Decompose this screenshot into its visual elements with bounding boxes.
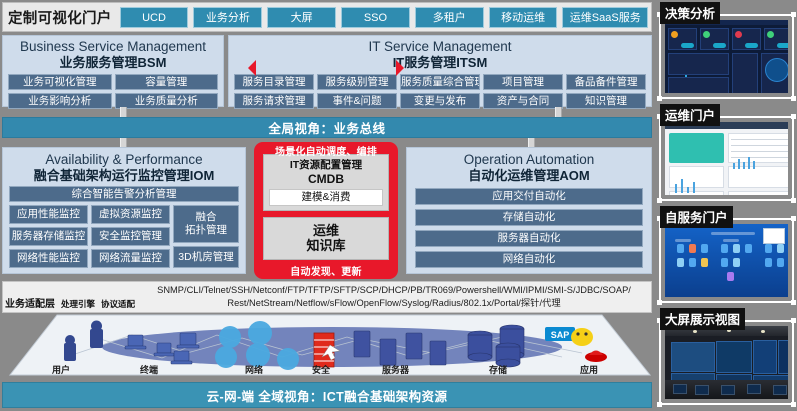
- protocol-layer-adapt-label: 协议适配: [101, 298, 135, 310]
- iom-topology-line2: 拓扑管理: [185, 224, 227, 237]
- iom-item-5[interactable]: 网络流量监控: [91, 249, 170, 268]
- bsm-item-grid: 业务可视化管理 容量管理 业务影响分析 业务质量分析: [8, 74, 218, 109]
- tab-mobile-ops[interactable]: 移动运维: [489, 7, 558, 28]
- protocol-adaptation-layer: 业务适配层 处理引擎 协议适配 SNMP/CLI/Telnet/SSH/Netc…: [2, 281, 652, 313]
- iom-item-grid: 应用性能监控 虚拟资源监控 服务器存储监控 安全监控管理 网络性能监控 网络流量…: [9, 205, 170, 268]
- diagram-root: 定制可视化门户 UCD 业务分析 大屏 SSO 多租户 移动运维 运维SaaS服…: [0, 0, 797, 411]
- iom-item-4[interactable]: 网络性能监控: [9, 249, 88, 268]
- tab-big-screen[interactable]: 大屏: [267, 7, 336, 28]
- global-bus-bar: 全局视角：业务总线: [2, 117, 652, 138]
- cmdb-inner-box: IT资源配置管理 CMDB 建模&消费: [263, 154, 389, 211]
- itsm-item-1[interactable]: 服务级别管理: [317, 74, 397, 90]
- preview-panel-self-service-portal[interactable]: 自服务门户: [656, 206, 797, 306]
- svg-text:SAP: SAP: [551, 330, 570, 340]
- infra-label-network: 网络: [245, 363, 263, 376]
- preview-caption-ops-portal: 运维门户: [660, 104, 720, 126]
- bottom-banner: 云-网-端 全域视角：ICT融合基础架构资源: [2, 382, 652, 408]
- itsm-title-en: IT Service Management: [234, 39, 646, 55]
- preview-image-ops-portal: [665, 122, 788, 195]
- preview-panel-ops-portal[interactable]: 运维门户: [656, 104, 797, 204]
- infra-label-security: 安全: [312, 363, 330, 376]
- tab-saas-service[interactable]: 运维SaaS服务: [562, 7, 648, 28]
- aom-item-3[interactable]: 网络自动化: [415, 251, 643, 268]
- iom-item-0[interactable]: 应用性能监控: [9, 205, 88, 224]
- bsm-item-2[interactable]: 业务影响分析: [8, 93, 112, 109]
- itsm-item-7[interactable]: 变更与发布: [400, 93, 480, 109]
- preview-frame-ops-portal: [659, 116, 794, 201]
- iom-item-2[interactable]: 服务器存储监控: [9, 227, 88, 246]
- preview-panel-big-screen-view[interactable]: 大屏展示视图: [656, 308, 797, 408]
- iom-title-en: Availability & Performance: [9, 152, 239, 168]
- tab-ucd[interactable]: UCD: [120, 7, 189, 28]
- cmdb-arrow-right-icon: [396, 60, 404, 76]
- iom-title-cn: 融合基础架构运行监控管理IOM: [9, 168, 239, 183]
- knowledge-base-line1: 运维: [269, 223, 383, 238]
- preview-panel-decision-analysis[interactable]: 决策分析: [656, 2, 797, 102]
- itsm-title-cn: IT服务管理ITSM: [234, 55, 646, 70]
- cmdb-caption-bottom: 自动发现、更新: [254, 263, 398, 278]
- tab-sso[interactable]: SSO: [341, 7, 410, 28]
- tab-multi-tenant[interactable]: 多租户: [415, 7, 484, 28]
- infra-label-application: 应用: [580, 363, 598, 376]
- preview-caption-self-service-portal: 自服务门户: [660, 206, 733, 228]
- iom-3d-room-item[interactable]: 3D机房管理: [173, 246, 239, 268]
- global-bus-label: 全局视角：业务总线: [268, 118, 385, 137]
- infrastructure-illustration: SAP 用户 终端 网络 安全 服务器 存储 应用: [2, 313, 652, 379]
- protocol-list-line-2: Rest/NetStream/Netflow/sFlow/OpenFlow/Sy…: [227, 297, 560, 310]
- tab-business-analysis[interactable]: 业务分析: [193, 7, 262, 28]
- preview-frame-self-service-portal: [659, 218, 794, 303]
- itsm-item-grid: 服务目录管理 服务级别管理 服务质量综合管理 项目管理 备品备件管理 服务请求管…: [234, 74, 646, 109]
- itsm-item-6[interactable]: 事件&问题: [317, 93, 397, 109]
- protocol-list: SNMP/CLI/Telnet/SSH/Netconf/FTP/TFTP/SFT…: [143, 282, 651, 312]
- itsm-item-3[interactable]: 项目管理: [483, 74, 563, 90]
- preview-frame-big-screen-view: [659, 320, 794, 405]
- itsm-item-0[interactable]: 服务目录管理: [234, 74, 314, 90]
- bottom-banner-label: 云-网-端 全域视角：ICT融合基础架构资源: [207, 386, 448, 405]
- panel-bsm: Business Service Management 业务服务管理BSM 业务…: [2, 35, 224, 107]
- panel-cmdb: 场景化自动调度、编排 IT资源配置管理 CMDB 建模&消费 运维 知识库 自动…: [254, 142, 398, 279]
- itsm-item-2[interactable]: 服务质量综合管理: [400, 74, 480, 90]
- protocol-layer-engine-label: 处理引擎: [61, 298, 95, 310]
- aom-item-2[interactable]: 服务器自动化: [415, 230, 643, 247]
- preview-caption-decision-analysis: 决策分析: [660, 2, 720, 24]
- iom-item-1[interactable]: 虚拟资源监控: [91, 205, 170, 224]
- preview-frame-decision-analysis: [659, 14, 794, 99]
- itsm-item-8[interactable]: 资产与合同: [483, 93, 563, 109]
- knowledge-base-line2: 知识库: [269, 238, 383, 253]
- cmdb-title-cn: IT资源配置管理: [269, 159, 383, 172]
- main-architecture-column: 定制可视化门户 UCD 业务分析 大屏 SSO 多租户 移动运维 运维SaaS服…: [0, 0, 654, 411]
- panel-iom: Availability & Performance 融合基础架构运行监控管理I…: [2, 147, 246, 274]
- preview-image-self-service-portal: [665, 224, 788, 297]
- portal-preview-sidebar: 决策分析: [656, 0, 797, 411]
- iom-side-items: 融合 拓扑管理 3D机房管理: [173, 205, 239, 268]
- bsm-item-3[interactable]: 业务质量分析: [115, 93, 219, 109]
- infra-label-server: 服务器: [382, 363, 409, 376]
- protocol-layer-main-label: 业务适配层: [5, 295, 55, 310]
- header-tab-list: UCD 业务分析 大屏 SSO 多租户 移动运维 运维SaaS服务: [116, 7, 648, 28]
- iom-topology-line1: 融合: [196, 211, 217, 224]
- knowledge-base-box[interactable]: 运维 知识库: [263, 217, 389, 260]
- cmdb-sub-item[interactable]: 建模&消费: [269, 189, 383, 206]
- panel-itsm: IT Service Management IT服务管理ITSM 服务目录管理 …: [228, 35, 652, 107]
- protocol-list-line-1: SNMP/CLI/Telnet/SSH/Netconf/FTP/TFTP/SFT…: [157, 284, 631, 297]
- panel-aom: Operation Automation 自动化运维管理AOM 应用交付自动化 …: [406, 147, 652, 274]
- iom-body: 应用性能监控 虚拟资源监控 服务器存储监控 安全监控管理 网络性能监控 网络流量…: [9, 205, 239, 268]
- preview-caption-big-screen-view: 大屏展示视图: [660, 308, 745, 330]
- iom-3d-room-label: 3D机房管理: [178, 251, 233, 264]
- infra-label-terminal: 终端: [140, 363, 158, 376]
- preview-image-decision-analysis: [665, 20, 788, 93]
- cmdb-caption-top: 场景化自动调度、编排: [254, 143, 398, 158]
- aom-item-list: 应用交付自动化 存储自动化 服务器自动化 网络自动化: [415, 188, 643, 268]
- bsm-item-0[interactable]: 业务可视化管理: [8, 74, 112, 90]
- bsm-item-1[interactable]: 容量管理: [115, 74, 219, 90]
- iom-topology-item[interactable]: 融合 拓扑管理: [173, 205, 239, 243]
- itsm-item-5[interactable]: 服务请求管理: [234, 93, 314, 109]
- aom-item-1[interactable]: 存储自动化: [415, 209, 643, 226]
- header-bar: 定制可视化门户 UCD 业务分析 大屏 SSO 多租户 移动运维 运维SaaS服…: [2, 2, 652, 32]
- preview-image-big-screen-view: [665, 326, 788, 399]
- aom-title-en: Operation Automation: [415, 152, 643, 168]
- protocol-layer-labels: 业务适配层 处理引擎 协议适配: [3, 282, 143, 312]
- aom-item-0[interactable]: 应用交付自动化: [415, 188, 643, 205]
- bsm-title-cn: 业务服务管理BSM: [8, 55, 218, 70]
- iom-item-3[interactable]: 安全监控管理: [91, 227, 170, 246]
- infra-label-user: 用户: [52, 363, 70, 376]
- iom-alarm-analysis-item[interactable]: 综合智能告警分析管理: [9, 186, 239, 202]
- cmdb-arrow-left-icon: [248, 60, 256, 76]
- itsm-item-4[interactable]: 备品备件管理: [566, 74, 646, 90]
- cmdb-title-en: CMDB: [269, 172, 383, 186]
- infra-label-storage: 存储: [489, 363, 507, 376]
- bsm-title-en: Business Service Management: [8, 39, 218, 55]
- itsm-item-9[interactable]: 知识管理: [566, 93, 646, 109]
- page-title: 定制可视化门户: [6, 7, 116, 28]
- aom-title-cn: 自动化运维管理AOM: [415, 168, 643, 183]
